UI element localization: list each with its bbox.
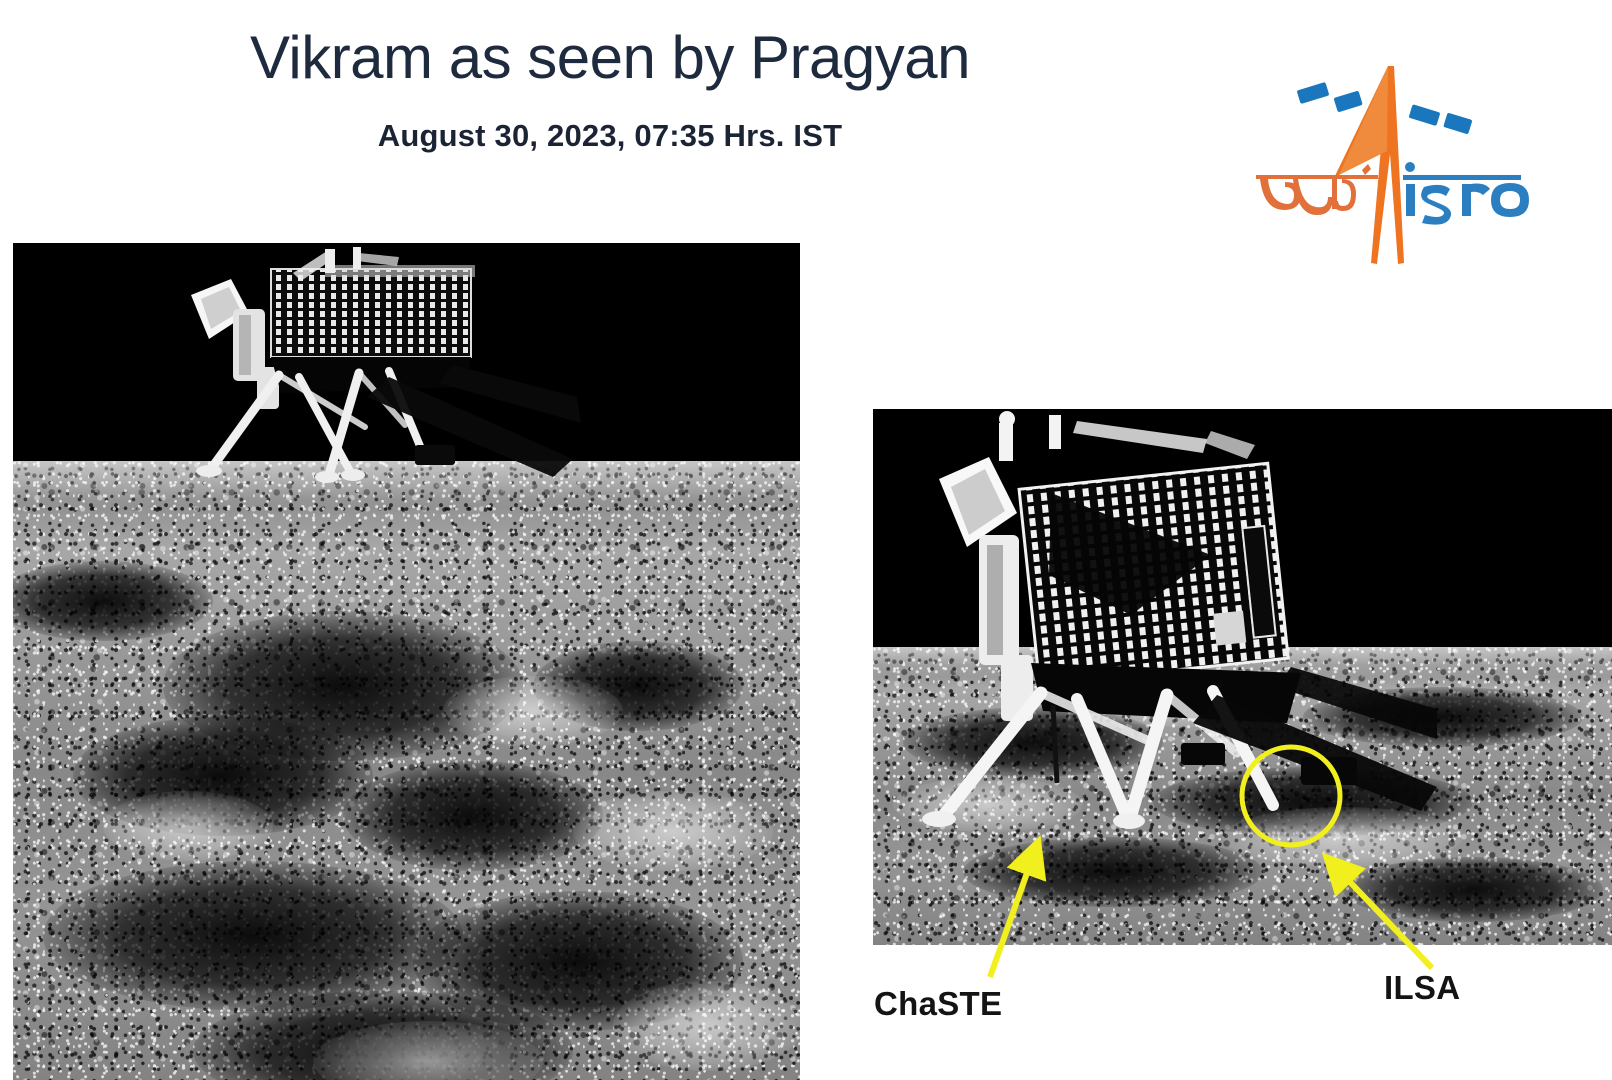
chaste-label: ChaSTE bbox=[874, 985, 1002, 1023]
ilsa-label: ILSA bbox=[1384, 969, 1460, 1007]
lander-reflector-panel bbox=[939, 457, 1017, 547]
page-title: Vikram as seen by Pragyan bbox=[0, 26, 1220, 89]
satellite-left-icon bbox=[1297, 82, 1363, 113]
isro-wordmark-devanagari bbox=[1256, 164, 1378, 215]
vikram-lander-body bbox=[881, 409, 1441, 825]
isro-wordmark-latin bbox=[1403, 162, 1529, 225]
page-subtitle-timestamp: August 30, 2023, 07:35 Hrs. IST bbox=[0, 118, 1220, 154]
lander-antenna-cluster bbox=[999, 411, 1255, 461]
lunar-regolith-ground bbox=[13, 461, 800, 1080]
vikram-lander-body bbox=[153, 247, 583, 477]
vikram-lander-wide-shot bbox=[13, 243, 800, 1080]
lander-side-structure bbox=[979, 535, 1033, 721]
satellite-right-icon bbox=[1409, 104, 1473, 134]
isro-logo bbox=[1238, 58, 1568, 273]
chaste-probe bbox=[1053, 705, 1057, 783]
vikram-lander-close-shot bbox=[873, 409, 1612, 945]
slide-root: Vikram as seen by Pragyan August 30, 202… bbox=[0, 0, 1612, 1080]
